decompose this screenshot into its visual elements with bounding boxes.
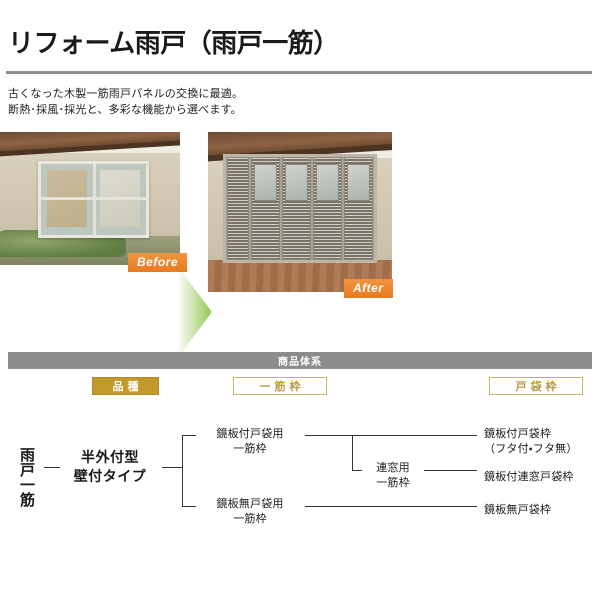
tree-node-branch-2-line1: 鏡板無戸袋用 [196, 497, 304, 512]
tree-node-renso: 連窓用 一筋枠 [363, 461, 423, 491]
photo-shutter-panel [227, 157, 249, 260]
before-badge: Before [128, 253, 187, 272]
tree-line [44, 467, 60, 468]
column-tag-hinshu: 品種 [92, 377, 159, 395]
title-underline-rule [6, 71, 592, 74]
tree-line [352, 435, 353, 470]
column-tag-label: 一筋枠 [256, 378, 305, 394]
photo-shutter-panel [313, 157, 342, 260]
product-system-title: 商品体系 [278, 353, 322, 368]
before-after-comparison [0, 132, 600, 307]
photo-shutter-panel [344, 157, 373, 260]
column-tag-tobukurowaku: 戸袋枠 [489, 377, 583, 395]
tree-node-branch-1-line2: 一筋枠 [196, 442, 304, 457]
photo-shutter-panel [251, 157, 280, 260]
tree-node-type-line2: 壁付タイプ [62, 467, 158, 486]
tree-line [352, 470, 362, 471]
tree-node-branch-2-line2: 一筋枠 [196, 512, 304, 527]
tree-node-branch-1-line1: 鏡板付戸袋用 [196, 427, 304, 442]
column-tag-label: 品種 [109, 378, 143, 394]
tree-line [162, 467, 182, 468]
tree-line [424, 470, 477, 471]
product-system-bar: 商品体系 [8, 352, 592, 369]
tree-node-branch-2: 鏡板無戸袋用 一筋枠 [196, 497, 304, 527]
after-photo [208, 132, 392, 292]
tree-node-branch-1: 鏡板付戸袋用 一筋枠 [196, 427, 304, 457]
tree-node-renso-line2: 一筋枠 [363, 476, 423, 491]
photo-louver-shutter-assembly [223, 154, 378, 263]
tree-node-result-2: 鏡板付連窓戸袋枠 [484, 470, 600, 485]
tree-node-renso-line1: 連窓用 [363, 461, 423, 476]
column-tag-label: 戸袋枠 [512, 378, 561, 394]
after-badge: After [344, 279, 393, 298]
tree-node-type: 半外付型 壁付タイプ [62, 448, 158, 486]
tree-node-type-line1: 半外付型 [62, 448, 158, 467]
tree-line [182, 435, 183, 507]
photo-interior-panel-right [100, 170, 140, 227]
product-tree-diagram: 雨戸一筋 半外付型 壁付タイプ 鏡板付戸袋用 一筋枠 鏡板無戸袋用 一筋枠 連窓… [0, 405, 600, 555]
tree-node-result-1-line1: 鏡板付戸袋枠 [484, 427, 600, 442]
tree-line [305, 435, 477, 436]
column-tag-hitosujiwaku: 一筋枠 [233, 377, 327, 395]
tree-root-label: 雨戸一筋 [14, 435, 36, 519]
tree-line [305, 506, 477, 507]
tree-node-result-1-line2: （フタ付・フタ無） [484, 442, 600, 457]
photo-interior-panel-left [47, 170, 87, 227]
tree-node-result-1: 鏡板付戸袋枠 （フタ付・フタ無） [484, 427, 600, 457]
tree-line [182, 506, 196, 507]
lead-line-2: 断熱･採風･採光と、多彩な機能から選べます。 [8, 102, 243, 118]
lead-copy: 古くなった木製一筋雨戸パネルの交換に最適。 断熱･採風･採光と、多彩な機能から選… [8, 86, 243, 118]
photo-glass-sliding-door [38, 161, 150, 238]
before-photo [0, 132, 180, 265]
tree-line [182, 435, 196, 436]
tree-node-result-3: 鏡板無戸袋枠 [484, 503, 600, 518]
photo-shutter-panel [282, 157, 311, 260]
lead-line-1: 古くなった木製一筋雨戸パネルの交換に最適。 [8, 86, 243, 102]
page-title: リフォーム雨戸（雨戸一筋） [8, 30, 339, 56]
